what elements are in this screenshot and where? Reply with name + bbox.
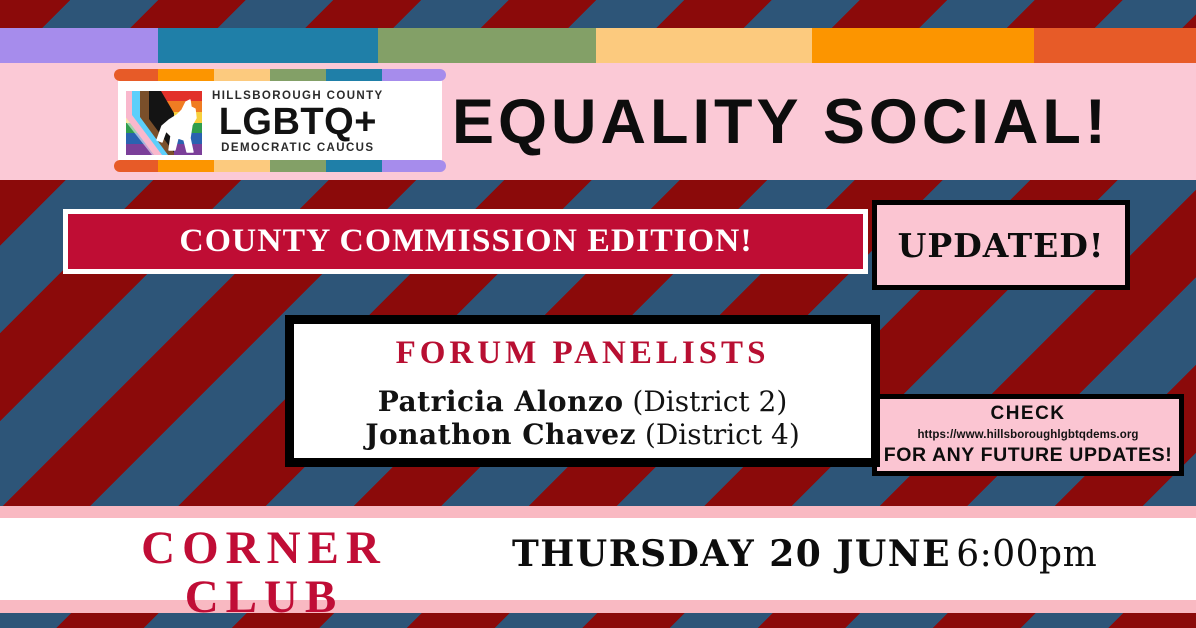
- logo-org-line2: LGBTQ+: [219, 103, 377, 141]
- future-updates-label: FOR ANY FUTURE UPDATES!: [884, 444, 1173, 467]
- color-segment-0: [114, 160, 158, 172]
- panelists-heading: FORUM PANELISTS: [396, 335, 770, 372]
- edition-banner: COUNTY COMMISSION EDITION!: [63, 209, 868, 274]
- color-segment-5: [1034, 28, 1196, 63]
- color-segment-2: [214, 160, 270, 172]
- rainbow-color-bar: [0, 28, 1196, 63]
- color-segment-2: [214, 69, 270, 81]
- color-segment-4: [812, 28, 1034, 63]
- event-datetime: THURSDAY 20 JUNE 6:00pm: [512, 533, 1097, 575]
- flyer-canvas: HILLSBOROUGH COUNTY LGBTQ+ DEMOCRATIC CA…: [0, 0, 1196, 628]
- venue-name: CORNER CLUB: [64, 524, 464, 623]
- website-url[interactable]: https://www.hillsboroughlgbtqdems.org: [917, 429, 1138, 441]
- panelist-name: Patricia Alonzo: [378, 385, 624, 418]
- progress-pride-flag-donkey-icon: [126, 91, 202, 155]
- panelist-name: Jonathon Chavez: [365, 418, 636, 451]
- event-time: 6:00pm: [956, 534, 1097, 575]
- panelist-row: Patricia Alonzo (District 2): [378, 385, 788, 418]
- color-segment-3: [270, 160, 326, 172]
- status-badge-text: UPDATED!: [898, 226, 1105, 265]
- color-segment-0: [0, 28, 158, 63]
- website-info-box: CHECK https://www.hillsboroughlgbtqdems.…: [872, 394, 1184, 476]
- panelist-row: Jonathon Chavez (District 4): [365, 418, 800, 451]
- color-segment-4: [326, 160, 382, 172]
- color-segment-1: [158, 28, 378, 63]
- status-badge: UPDATED!: [872, 200, 1130, 290]
- page-title: EQUALITY SOCIAL!: [452, 84, 1110, 160]
- color-segment-1: [158, 69, 214, 81]
- panelist-district: (District 2): [632, 385, 787, 418]
- organization-logo: HILLSBOROUGH COUNTY LGBTQ+ DEMOCRATIC CA…: [118, 74, 442, 171]
- logo-bottom-rainbow-bar: [114, 160, 446, 172]
- color-segment-1: [158, 160, 214, 172]
- color-segment-5: [382, 69, 446, 81]
- donkey-icon: [156, 98, 200, 154]
- color-segment-4: [326, 69, 382, 81]
- logo-org-line3: DEMOCRATIC CAUCUS: [221, 143, 374, 155]
- panelist-district: (District 4): [645, 418, 800, 451]
- color-segment-2: [378, 28, 596, 63]
- event-date: THURSDAY 20 JUNE: [512, 533, 951, 575]
- panelists-panel: FORUM PANELISTS Patricia Alonzo (Distric…: [285, 315, 880, 467]
- footer-pink-band-top: [0, 506, 1196, 518]
- color-segment-3: [596, 28, 812, 63]
- check-label: CHECK: [990, 403, 1065, 425]
- color-segment-3: [270, 69, 326, 81]
- venue-info: CORNER CLUB 1502 E. SLIGH AVENUE, TAMPA: [64, 524, 464, 628]
- color-segment-5: [382, 160, 446, 172]
- logo-top-rainbow-bar: [114, 69, 446, 81]
- color-segment-0: [114, 69, 158, 81]
- edition-banner-text: COUNTY COMMISSION EDITION!: [179, 223, 752, 260]
- venue-address: 1502 E. SLIGH AVENUE, TAMPA: [64, 624, 464, 628]
